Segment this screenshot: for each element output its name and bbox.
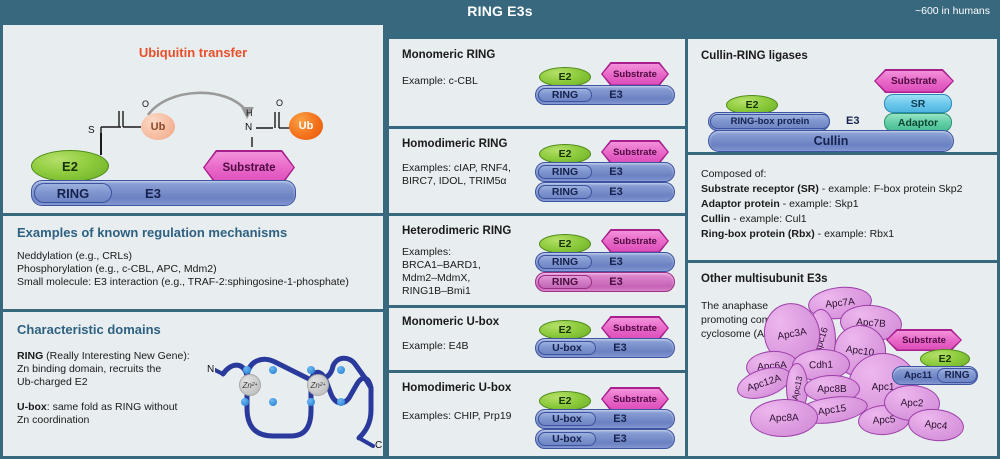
ubox-term-rest: : same fold as RING without [47,401,178,413]
cysteine-dot [337,398,345,406]
panel-example: BIRC7, IDOL, TRIM5α [402,175,511,188]
regulation-heading: Examples of known regulation mechanisms [17,225,287,240]
panel-title: Homodimeric RING [402,138,507,150]
substrate-hexagon: Substrate [874,69,954,93]
panel-example: Example: E4B [402,340,469,353]
panel-example: RING1B–Bmi1 [402,285,481,298]
substrate-label: Substrate [205,152,294,184]
e3-label: E3 [594,253,638,271]
panel-monomeric-ubox: Monomeric U-box Example: E4B E2 Substrat… [389,308,685,370]
cysteine-dot [241,398,249,406]
page-title: RING E3s [0,0,1000,22]
ring-domain-cap: RING [34,183,112,203]
ubox-cap: U-box [538,341,596,355]
ring-desc-line3: Ub-charged E2 [17,376,217,389]
right-column: Cullin-RING ligases Substrate SR Adaptor… [688,22,1000,459]
e3-label: E3 [594,163,638,181]
panel-example: Examples: cIAP, RNF4, [402,162,511,175]
cysteine-dot [269,366,277,374]
cysteine-dot [269,398,277,406]
panel-monomeric-ring: Monomeric RING Example: c-CBL E2 Substra… [389,39,685,126]
substrate-hexagon: Substrate [601,316,669,340]
panel-ubiquitin-transfer: Ubiquitin transfer S O Ub E2 H N O [3,25,383,213]
n-terminus-label: N [207,364,214,375]
substrate-hexagon: Substrate [601,140,669,164]
panel-example: Example: c-CBL [402,75,478,88]
panel-example: Examples: [402,246,481,259]
ubox-term-bold: U-box [17,401,47,413]
apc11-label: Apc11 [897,367,939,384]
regulation-item: Phosphorylation (e.g., c-CBL, APC, Mdm2) [17,263,349,276]
e3-label: E3 [598,430,642,448]
e2-oval: E2 [539,67,591,87]
ubox-cap: U-box [538,412,596,426]
composition-item: Adaptor protein - example: Skp1 [701,197,962,212]
panel-title: Homodimeric U-box [402,382,511,394]
ring-term-bold: RING [17,350,43,362]
cysteine-dot [243,366,251,374]
substrate-hexagon: Substrate [601,387,669,411]
substrate-receptor-box: SR [884,94,952,113]
substrate-hexagon: Substrate [601,229,669,253]
e3-bar: RING E3 [31,180,296,206]
ring-cap: RING [937,368,977,383]
e3-bar-1: U-box E3 [535,338,675,358]
e3-bar-2: RING E3 [535,272,675,292]
panel-title: Monomeric RING [402,49,495,61]
c-terminus-label: C [375,440,382,451]
apc-subunit-apc8a: Apc8A [749,398,818,438]
e3-label: E3 [594,273,638,291]
composition-item: Substrate receptor (SR) - example: F-box… [701,182,962,197]
e3-bar-1: U-box E3 [535,409,675,429]
ring-cap: RING [538,165,592,179]
human-count-note: ~600 in humans [915,0,990,22]
panel-heterodimeric-ring: Heterodimeric RING Examples: BRCA1–BARD1… [389,216,685,305]
domains-heading: Characteristic domains [17,322,161,337]
e2-oval: E2 [539,234,591,254]
ring-desc-line2: Zn binding domain, recruits the [17,363,217,376]
zinc-finger-backbone-icon [215,350,381,450]
regulation-item: Small molecule: E3 interaction (e.g., TR… [17,276,349,289]
e2-oval: E2 [539,320,591,340]
ubiquitin-transfer-title: Ubiquitin transfer [3,45,383,60]
apc-subunit-apc4: Apc4 [906,406,965,444]
e2-oval: E2 [539,391,591,411]
e2-thioester-stalk [100,133,102,155]
ring-term-rest: (Really Interesting New Gene): [43,350,189,362]
panel-title: Monomeric U-box [402,316,499,328]
panel-cullin-ring-ligases: Cullin-RING ligases Substrate SR Adaptor… [688,39,997,152]
e2-oval: E2 [539,144,591,164]
panel-example: BRCA1–BARD1, [402,259,481,272]
cysteine-dot [307,398,315,406]
e3-bar-2: RING E3 [535,182,675,202]
composition-item: Cullin - example: Cul1 [701,212,962,227]
panel-crl-composition: Composed of: Substrate receptor (SR) - e… [688,155,997,260]
e3-label: E3 [598,410,642,428]
e3-label: E3 [594,183,638,201]
e2-oval: E2 [31,150,109,182]
ub-donor-circle: Ub [141,113,175,140]
panel-regulation-mechanisms: Examples of known regulation mechanisms … [3,216,383,309]
panel-title: Heterodimeric RING [402,225,511,237]
e3-label: E3 [846,115,859,127]
composed-heading: Composed of: [701,167,962,182]
cysteine-dot [307,366,315,374]
ring-box-protein-bar: RING-box protein [708,112,830,131]
ubox-cap: U-box [538,432,596,446]
ub-acceptor-circle: Ub [289,112,323,140]
e3-domain-label: E3 [118,181,188,205]
panel-title: Other multisubunit E3s [701,273,828,285]
top-header-bar: RING E3s ~600 in humans [0,0,1000,22]
e3-bar-1: RING E3 [535,162,675,182]
panel-homodimeric-ring: Homodimeric RING Examples: cIAP, RNF4, B… [389,129,685,213]
ubox-desc-line2: Zn coordination [17,414,217,427]
ring-cap: RING [538,185,592,199]
ring-cap: RING [538,255,592,269]
substrate-hexagon: Substrate [886,329,962,351]
ring-cap: RING [538,275,592,289]
apc11-ring-bar: Apc11 RING [892,366,978,385]
e3-bar-2: U-box E3 [535,429,675,449]
panel-homodimeric-ubox: Homodimeric U-box Examples: CHIP, Prp19 … [389,373,685,456]
zinc-ion-1: Zn2+ [239,374,261,396]
panel-characteristic-domains: Characteristic domains RING (Really Inte… [3,312,383,456]
substrate-hexagon: Substrate [601,62,669,86]
middle-column: Monomeric RING Example: c-CBL E2 Substra… [386,22,688,459]
panel-multisubunit-e3s: Other multisubunit E3s The anaphase prom… [688,263,997,456]
left-column: Ubiquitin transfer S O Ub E2 H N O [0,22,386,459]
regulation-item: Neddylation (e.g., CRLs) [17,250,349,263]
panel-example: Mdm2–MdmX, [402,272,481,285]
e3-label: E3 [594,86,638,104]
e3-label: E3 [598,339,642,357]
ring-cap: RING [538,88,592,102]
panel-title: Cullin-RING ligases [701,50,808,62]
cullin-bar: Cullin [708,130,954,152]
e3-bar-1: RING E3 [535,252,675,272]
panel-example: Examples: CHIP, Prp19 [402,410,512,423]
cysteine-dot [337,366,345,374]
composition-item: Ring-box protein (Rbx) - example: Rbx1 [701,227,962,242]
zinc-ion-2: Zn2+ [307,374,329,396]
e3-bar-1: RING E3 [535,85,675,105]
